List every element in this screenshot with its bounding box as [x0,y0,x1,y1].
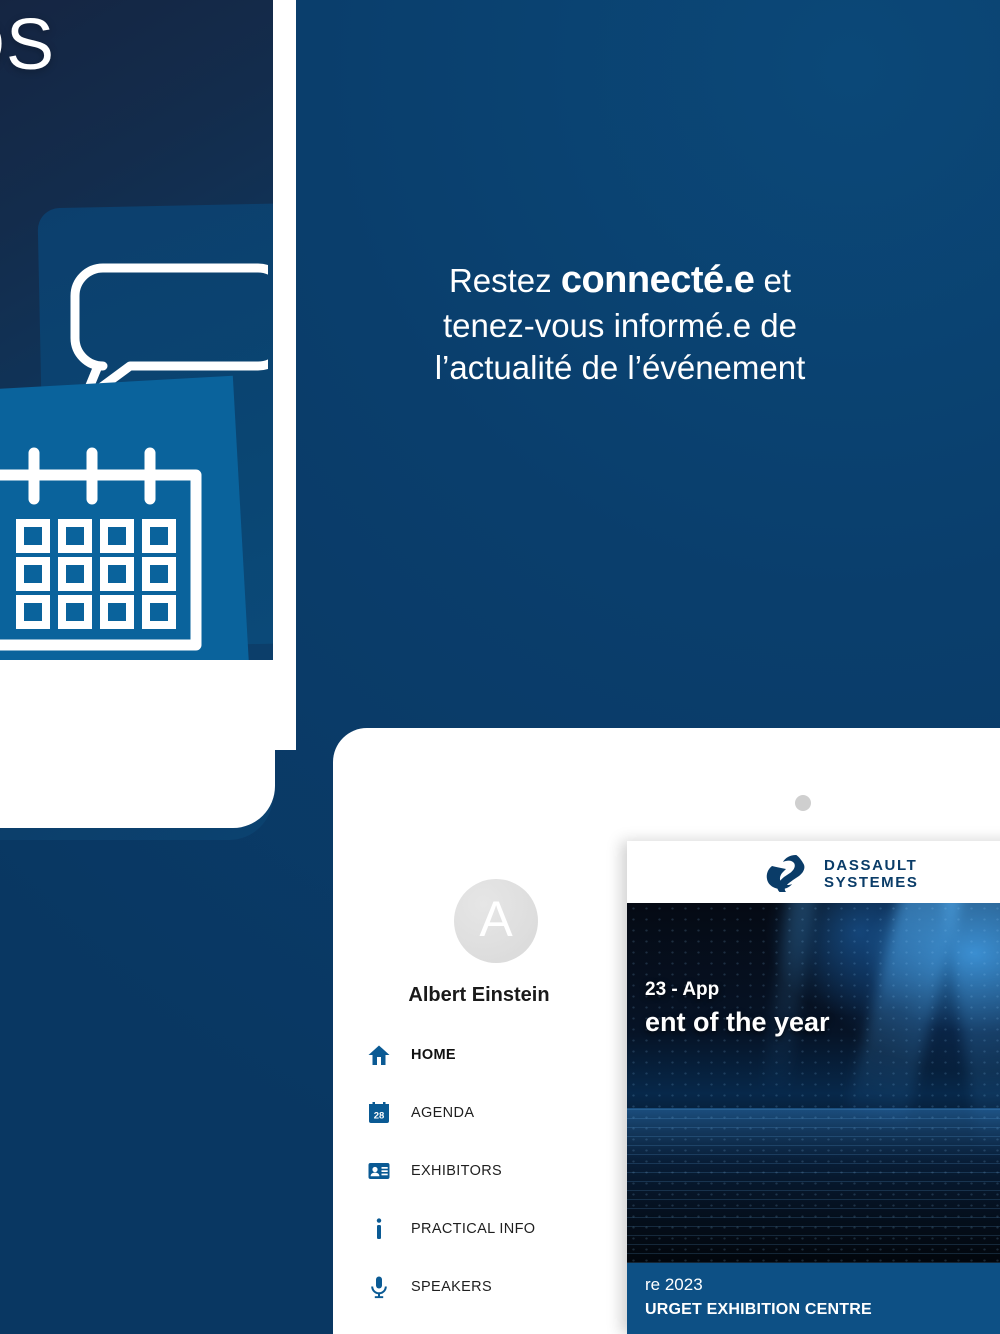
app-drawer: A Albert Einstein HOME 28 [333,826,625,1334]
event-title-block: 23 - App ent of the year [645,979,830,1038]
headline-emphasis: connecté.e [561,259,755,301]
sidebar-item-exhibitors[interactable]: EXHIBITORS [333,1142,625,1200]
headline-part1: Restez [449,262,561,299]
sidebar-item-label: HOME [411,1047,456,1063]
calendar-28-icon: 28 [365,1099,393,1127]
event-logo-bar: DASSAULT SYSTEMES [627,841,1000,903]
sidebar-item-notes[interactable] [333,1316,625,1334]
dassault-systemes-logo-icon: DASSAULT SYSTEMES [766,852,934,892]
camera-dot-icon [795,795,811,811]
event-card[interactable]: DASSAULT SYSTEMES 23 - App ent of the ye… [627,841,1000,1334]
event-date: re 2023 [645,1275,1000,1295]
sidebar-item-label: SPEAKERS [411,1279,492,1295]
drawer-menu: HOME 28 AGENDA [333,1026,625,1334]
promo-screen: 3DS Restez connecté.e et tenez-vous info… [0,0,1000,1334]
microphone-icon [365,1273,393,1301]
headline-line3: l’actualité de l’événement [435,349,806,386]
avatar-letter: A [479,894,512,944]
sparkle-overlay [627,903,1000,1263]
user-name: Albert Einstein [333,984,625,1007]
slab-gutter [273,0,296,750]
sidebar-item-practical-info[interactable]: PRACTICAL INFO [333,1200,625,1258]
badge-id-icon [365,1157,393,1185]
event-venue: URGET EXHIBITION CENTRE [645,1301,1000,1319]
sidebar-item-label: PRACTICAL INFO [411,1221,535,1237]
event-footer: re 2023 URGET EXHIBITION CENTRE [627,1263,1000,1334]
headline-part2: et [754,262,791,299]
avatar[interactable]: A [454,879,538,963]
white-panel [0,660,275,828]
page-title: Restez connecté.e et tenez-vous informé.… [330,256,910,389]
event-kicker: 23 - App [645,979,830,1001]
info-icon [365,1215,393,1243]
brand-wordmark: 3DS [0,4,55,86]
calendar-icon [0,447,210,659]
sidebar-item-agenda[interactable]: 28 AGENDA [333,1084,625,1142]
home-icon [365,1041,393,1069]
svg-text:28: 28 [374,1111,385,1122]
svg-text:DASSAULT: DASSAULT [824,857,917,874]
event-title: ent of the year [645,1007,830,1038]
sidebar-item-label: EXHIBITORS [411,1163,502,1179]
svg-text:SYSTEMES: SYSTEMES [824,874,919,891]
sidebar-item-label: AGENDA [411,1105,474,1121]
sidebar-item-speakers[interactable]: SPEAKERS [333,1258,625,1316]
sidebar-item-home[interactable]: HOME [333,1026,625,1084]
event-hero-image: 23 - App ent of the year [627,903,1000,1263]
headline-line2: tenez-vous informé.e de [443,307,797,344]
